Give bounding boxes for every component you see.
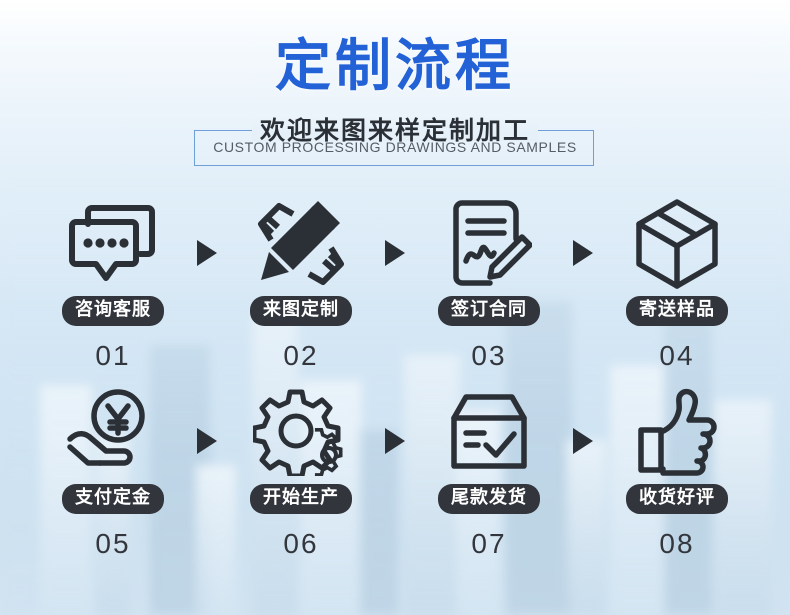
- process-steps: 咨询客服 01: [0, 196, 790, 572]
- step-number: 05: [95, 528, 130, 560]
- triangle-right-icon: [385, 428, 405, 454]
- arrow-2: [377, 196, 413, 266]
- step-label: 寄送样品: [626, 296, 728, 326]
- arrow-4: [189, 384, 225, 454]
- arrow-6: [565, 384, 601, 454]
- subtitle-english: CUSTOM PROCESSING DRAWINGS AND SAMPLES: [194, 139, 596, 155]
- package-box-icon: [633, 196, 721, 292]
- step-label: 开始生产: [250, 484, 352, 514]
- step-label: 支付定金: [62, 484, 164, 514]
- chat-bubbles-icon: [66, 196, 160, 292]
- step-item-04[interactable]: 寄送样品 04: [601, 196, 753, 372]
- step-number: 07: [471, 528, 506, 560]
- process-row-2: 支付定金 05: [0, 384, 790, 572]
- step-item-07[interactable]: 尾款发货 07: [413, 384, 565, 560]
- banner-header: 定制流程 欢迎来图来样定制加工 CUSTOM PROCESSING DRAWIN…: [0, 0, 790, 167]
- subtitle-frame: 欢迎来图来样定制加工 CUSTOM PROCESSING DRAWINGS AN…: [194, 115, 596, 167]
- gears-icon: [253, 384, 349, 480]
- arrow-1: [189, 196, 225, 266]
- step-label: 尾款发货: [438, 484, 540, 514]
- step-number: 03: [471, 340, 506, 372]
- step-label: 收货好评: [626, 484, 728, 514]
- page-title: 定制流程: [0, 0, 790, 97]
- step-number: 04: [659, 340, 694, 372]
- triangle-right-icon: [573, 428, 593, 454]
- triangle-right-icon: [197, 240, 217, 266]
- triangle-right-icon: [197, 428, 217, 454]
- step-item-06[interactable]: 开始生产 06: [225, 384, 377, 560]
- hand-yuan-coin-icon: [66, 384, 160, 480]
- thumbs-up-icon: [635, 384, 719, 480]
- step-item-01[interactable]: 咨询客服 01: [37, 196, 189, 372]
- step-number: 08: [659, 528, 694, 560]
- customization-process-banner: 定制流程 欢迎来图来样定制加工 CUSTOM PROCESSING DRAWIN…: [0, 0, 790, 615]
- step-label: 来图定制: [250, 296, 352, 326]
- step-item-02[interactable]: 来图定制 02: [225, 196, 377, 372]
- step-label: 签订合同: [438, 296, 540, 326]
- step-number: 02: [283, 340, 318, 372]
- arrow-3: [565, 196, 601, 266]
- arrow-5: [377, 384, 413, 454]
- pencil-drawing-icon: [255, 196, 347, 292]
- triangle-right-icon: [573, 240, 593, 266]
- step-number: 01: [95, 340, 130, 372]
- step-label: 咨询客服: [62, 296, 164, 326]
- step-item-03[interactable]: 签订合同 03: [413, 196, 565, 372]
- process-row-1: 咨询客服 01: [0, 196, 790, 384]
- contract-signature-icon: [446, 196, 532, 292]
- step-item-05[interactable]: 支付定金 05: [37, 384, 189, 560]
- triangle-right-icon: [385, 240, 405, 266]
- step-number: 06: [283, 528, 318, 560]
- step-item-08[interactable]: 收货好评 08: [601, 384, 753, 560]
- shipping-check-icon: [446, 384, 532, 480]
